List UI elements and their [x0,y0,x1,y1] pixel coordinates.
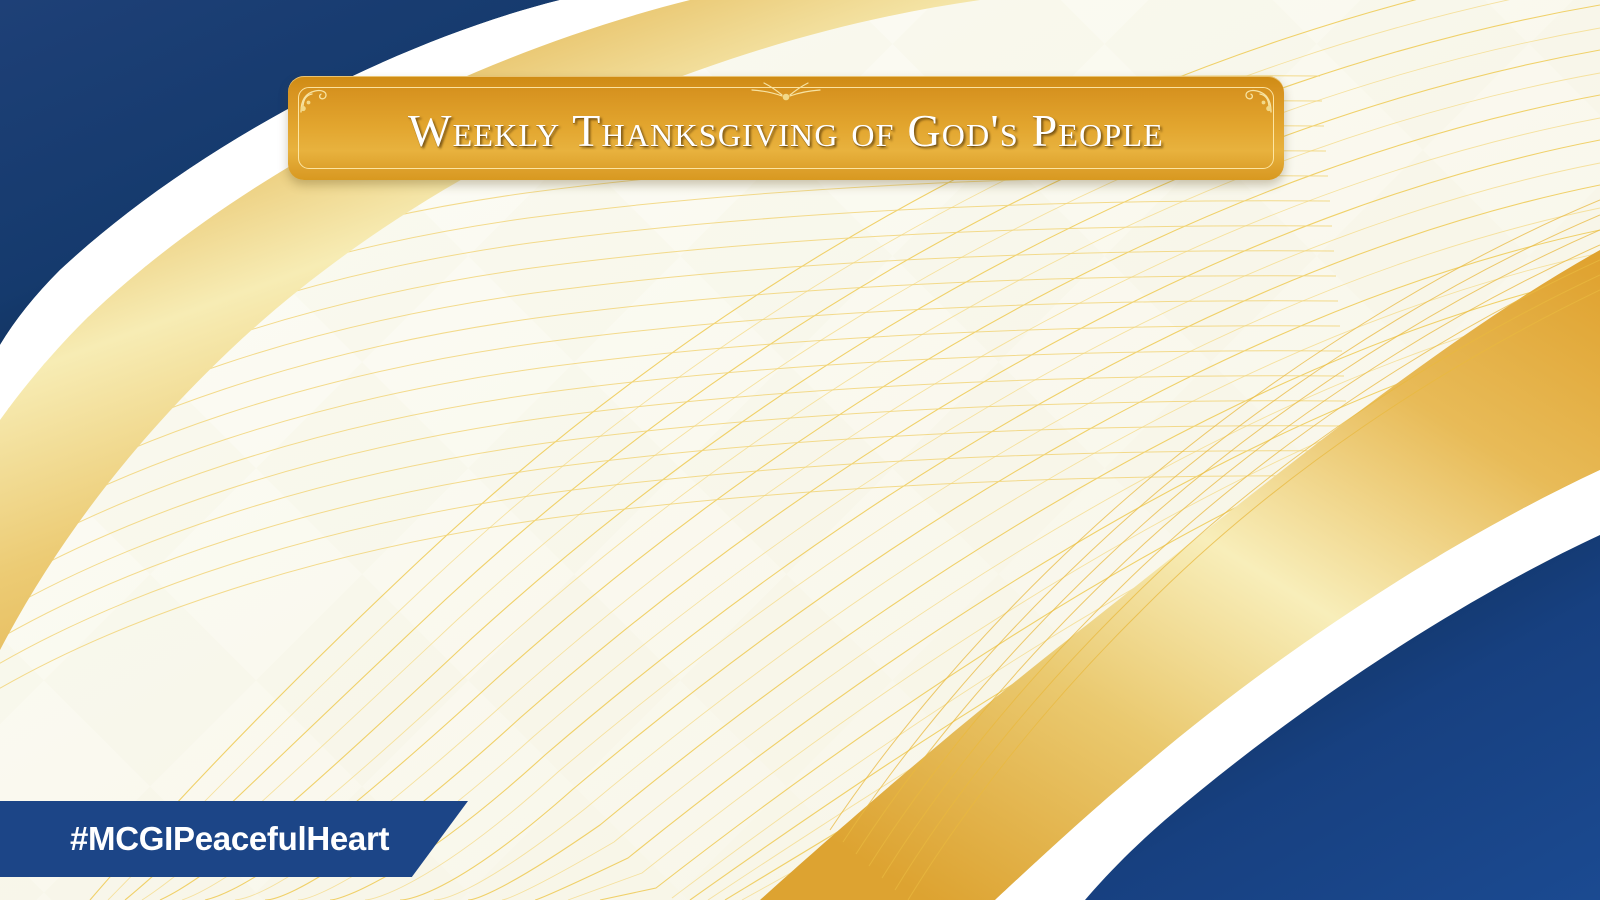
hashtag-label: #MCGIPeacefulHeart [0,820,389,858]
title-banner: Weekly Thanksgiving of God's People [288,76,1284,180]
presentation-slide: Weekly Thanksgiving of God's People #MCG… [0,0,1600,900]
hashtag-banner: #MCGIPeacefulHeart [0,801,468,877]
page-title: Weekly Thanksgiving of God's People [288,76,1284,180]
